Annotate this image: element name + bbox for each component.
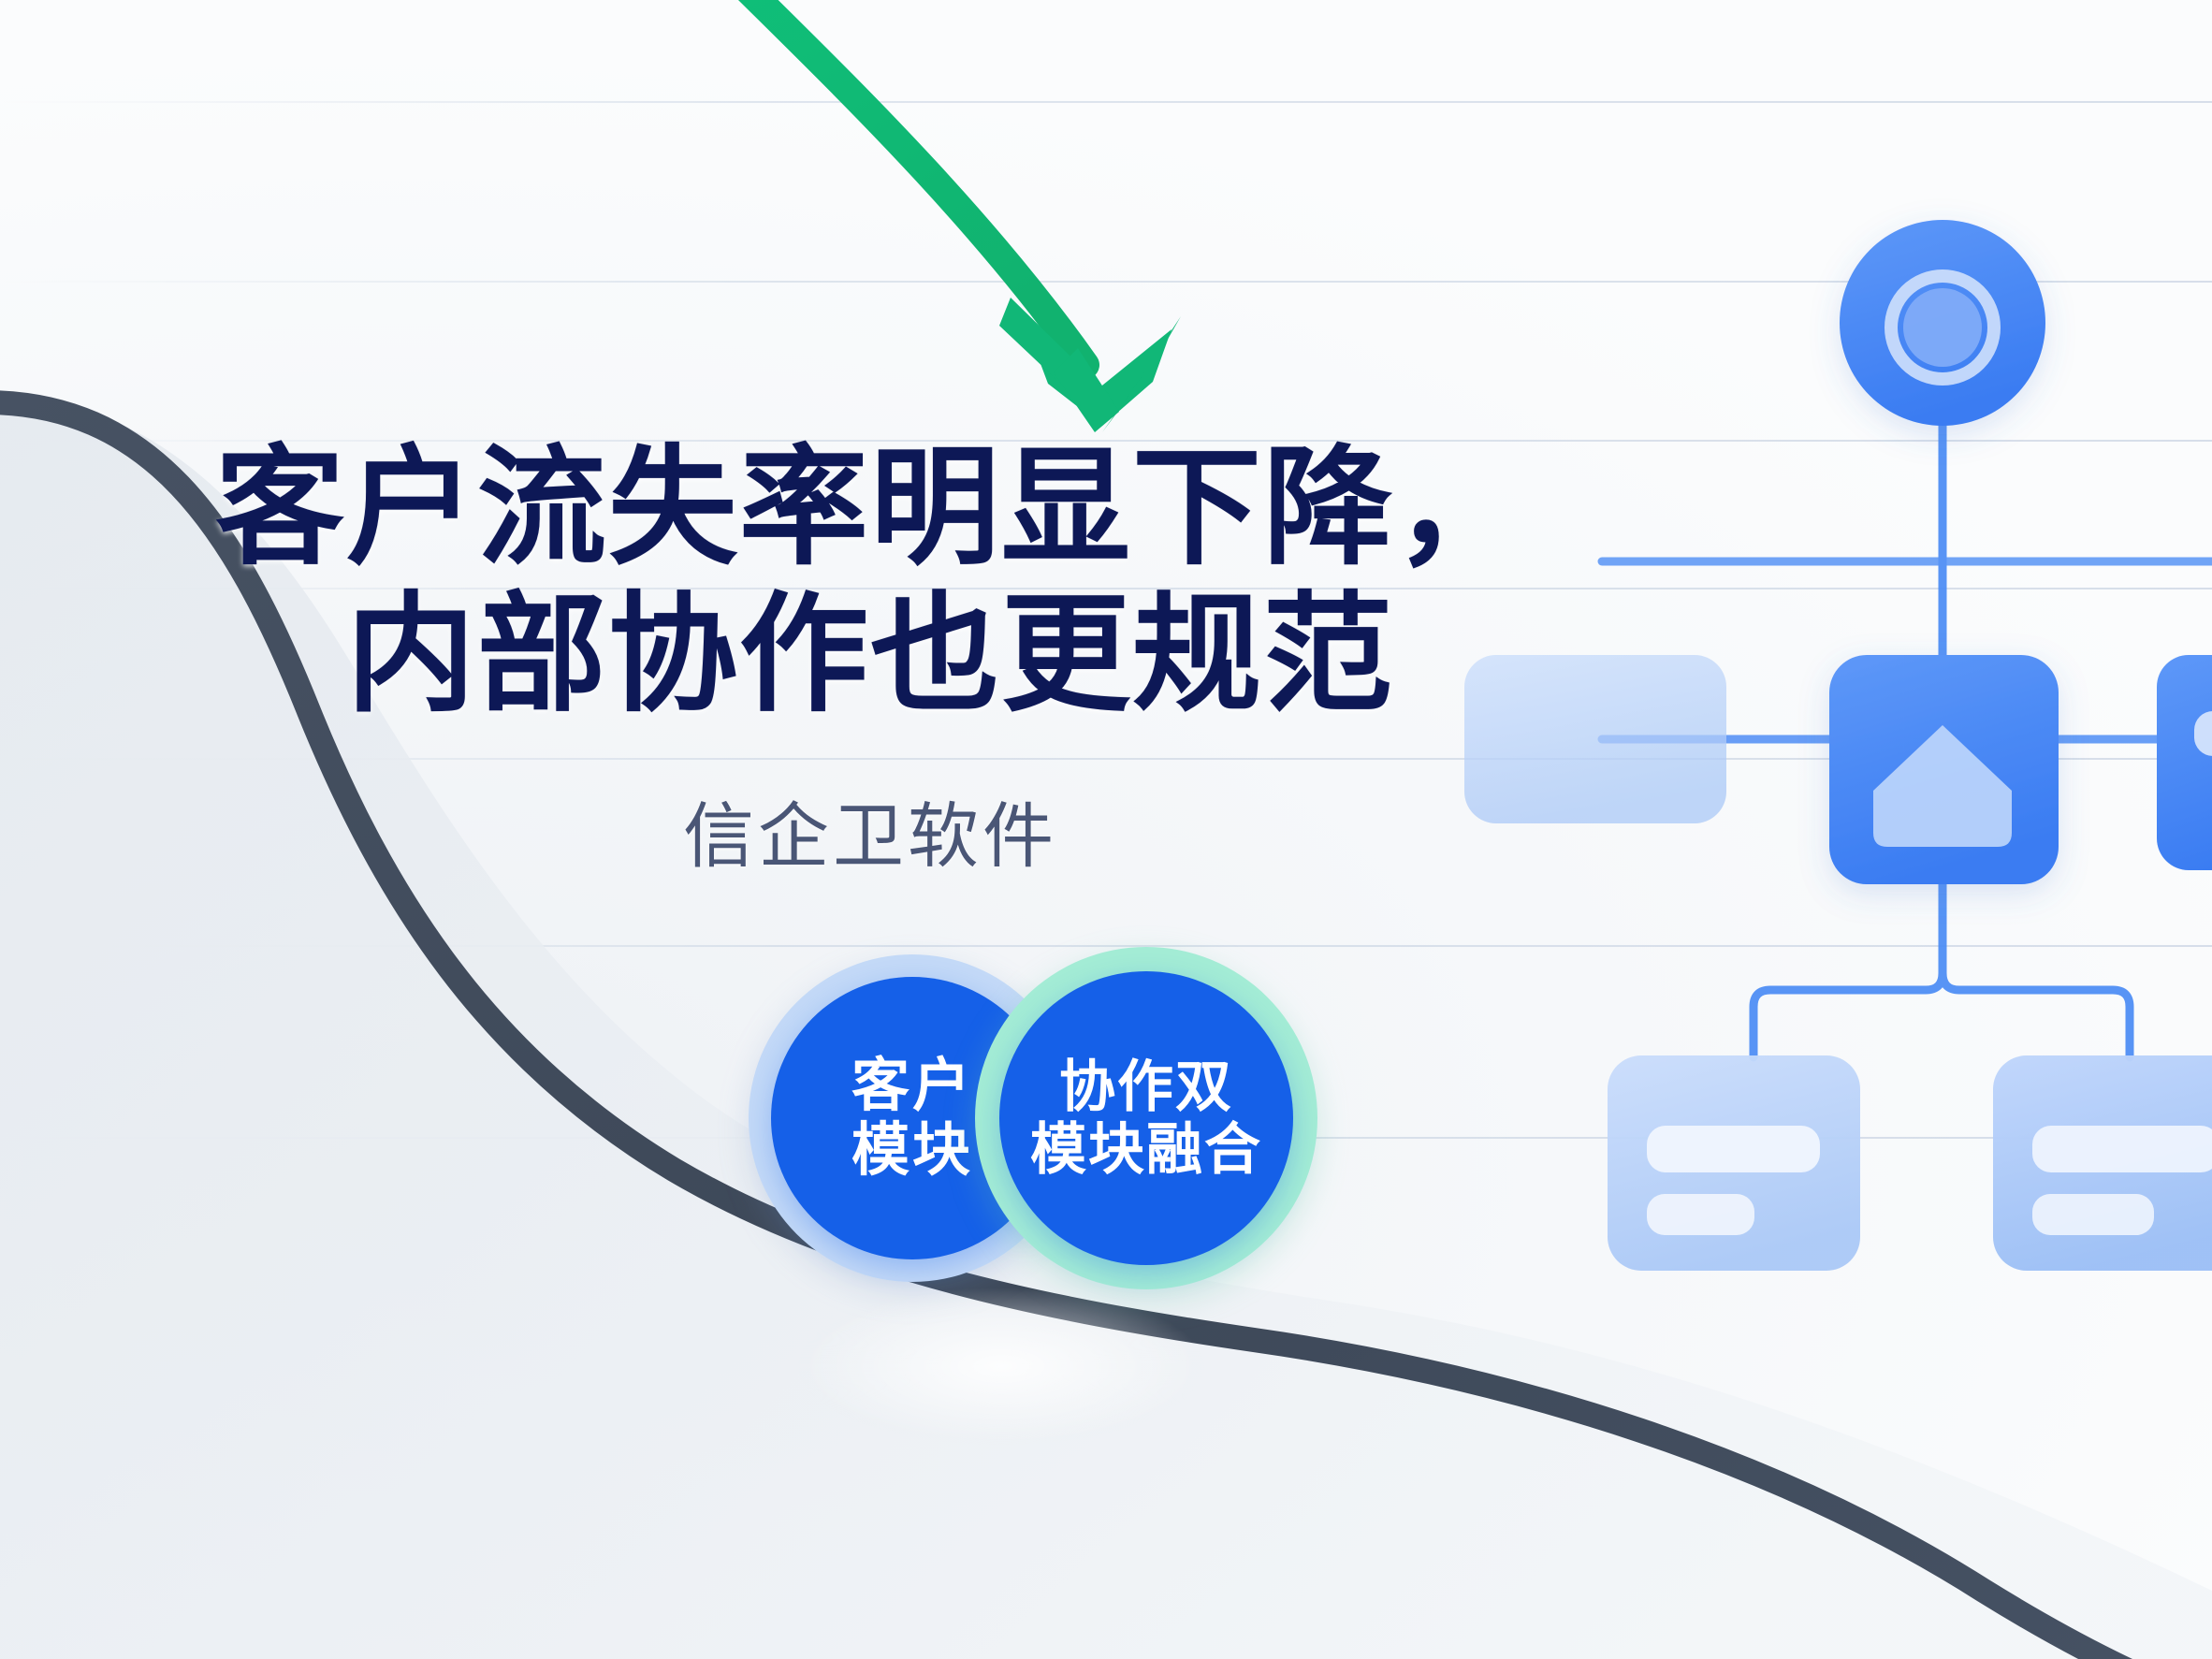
list-card-icon — [1993, 1055, 2212, 1271]
badge-collaboration-line-1: 协作双 — [1059, 1055, 1233, 1118]
badge-collaboration-line-2: 模块融合 — [1030, 1118, 1262, 1181]
circle-node-icon — [1840, 220, 2045, 426]
poster-canvas: 客户流失率明显下降， 内部协作也更规范 信企卫软件 客户 模块 协作双 模块融合 — [0, 0, 2212, 1659]
org-chart-diagram-icon — [1464, 220, 2212, 1271]
subtitle: 信企卫软件 — [0, 779, 1740, 881]
curved-down-arrow-icon — [720, 0, 1181, 432]
badge-customer-line-1: 客户 — [851, 1054, 973, 1118]
badge-collaboration-module[interactable]: 协作双 模块融合 — [975, 947, 1317, 1289]
card-node-icon — [2157, 655, 2212, 870]
badge-collaboration-inner: 协作双 模块融合 — [999, 971, 1293, 1265]
list-card-icon — [1608, 1055, 1860, 1271]
headline-line-2: 内部协作也更规范 — [0, 579, 1740, 732]
badge-customer-line-2: 模块 — [851, 1118, 973, 1183]
home-node-icon — [1829, 655, 2059, 884]
headline-line-1: 客户流失率明显下降， — [0, 432, 1740, 585]
headline: 客户流失率明显下降， 内部协作也更规范 — [0, 432, 1740, 732]
